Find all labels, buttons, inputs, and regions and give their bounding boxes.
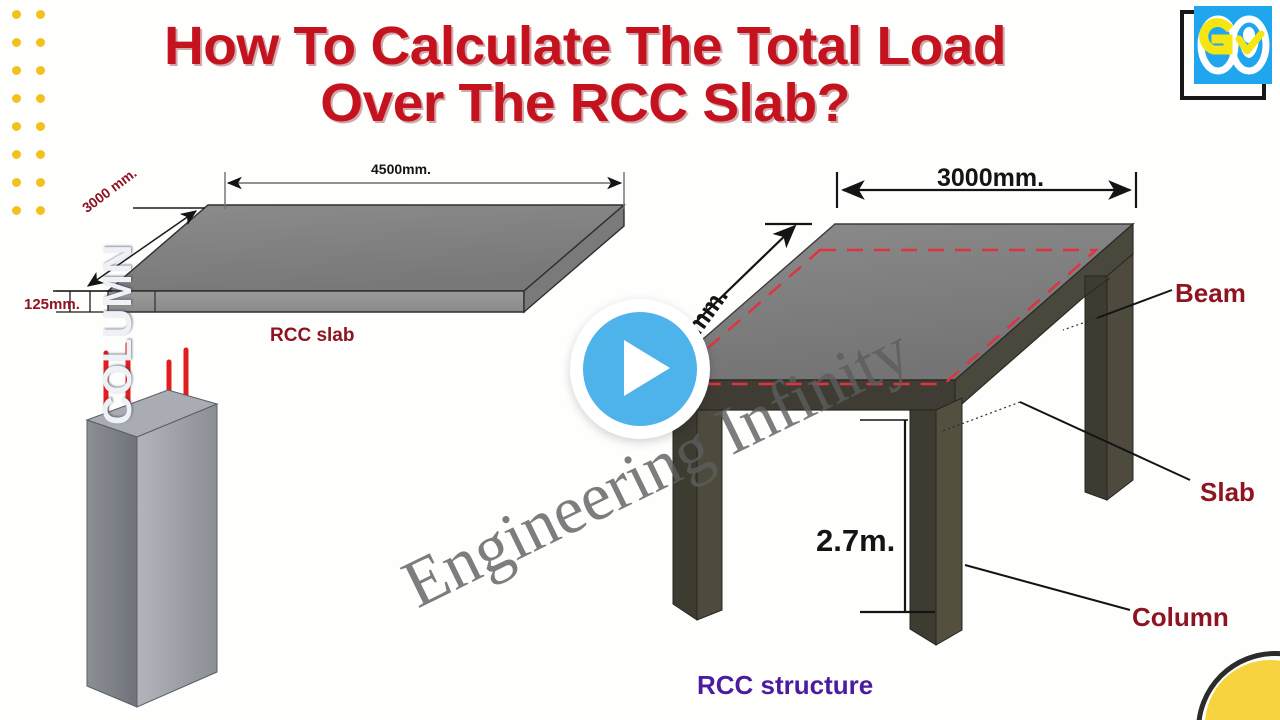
slab-thickness-label: 125mm.	[24, 296, 80, 313]
slab-front-face	[108, 291, 524, 312]
slab-length-label: 4500mm.	[371, 161, 431, 177]
dimension-4500mm	[225, 172, 624, 209]
callout-label-column: Column	[1132, 602, 1229, 633]
column-front-face	[87, 420, 137, 707]
structure-span-label: 3000mm.	[937, 164, 1044, 193]
column-front-right	[910, 410, 936, 645]
callout-label-beam: Beam	[1175, 278, 1246, 309]
rcc-structure-caption: RCC structure	[697, 670, 873, 701]
rcc-structure-figure	[656, 224, 1133, 645]
column-back-right	[1085, 276, 1107, 500]
rcc-slab-caption: RCC slab	[270, 325, 354, 347]
column-front-left-side	[697, 410, 722, 620]
column-front-right-side	[936, 398, 962, 645]
column-right-face	[137, 404, 217, 707]
callout-label-slab: Slab	[1200, 477, 1255, 508]
column-front-left	[673, 410, 697, 620]
column-back-right-side	[1107, 254, 1133, 500]
video-thumbnail-canvas: How To Calculate The Total Load Over The…	[0, 0, 1280, 720]
rcc-slab-figure	[108, 205, 624, 312]
play-triangle-icon	[624, 340, 670, 396]
structure-height-label: 2.7m.	[816, 523, 895, 559]
column-face-label: COLUMN	[96, 243, 141, 425]
play-button[interactable]	[570, 299, 710, 439]
